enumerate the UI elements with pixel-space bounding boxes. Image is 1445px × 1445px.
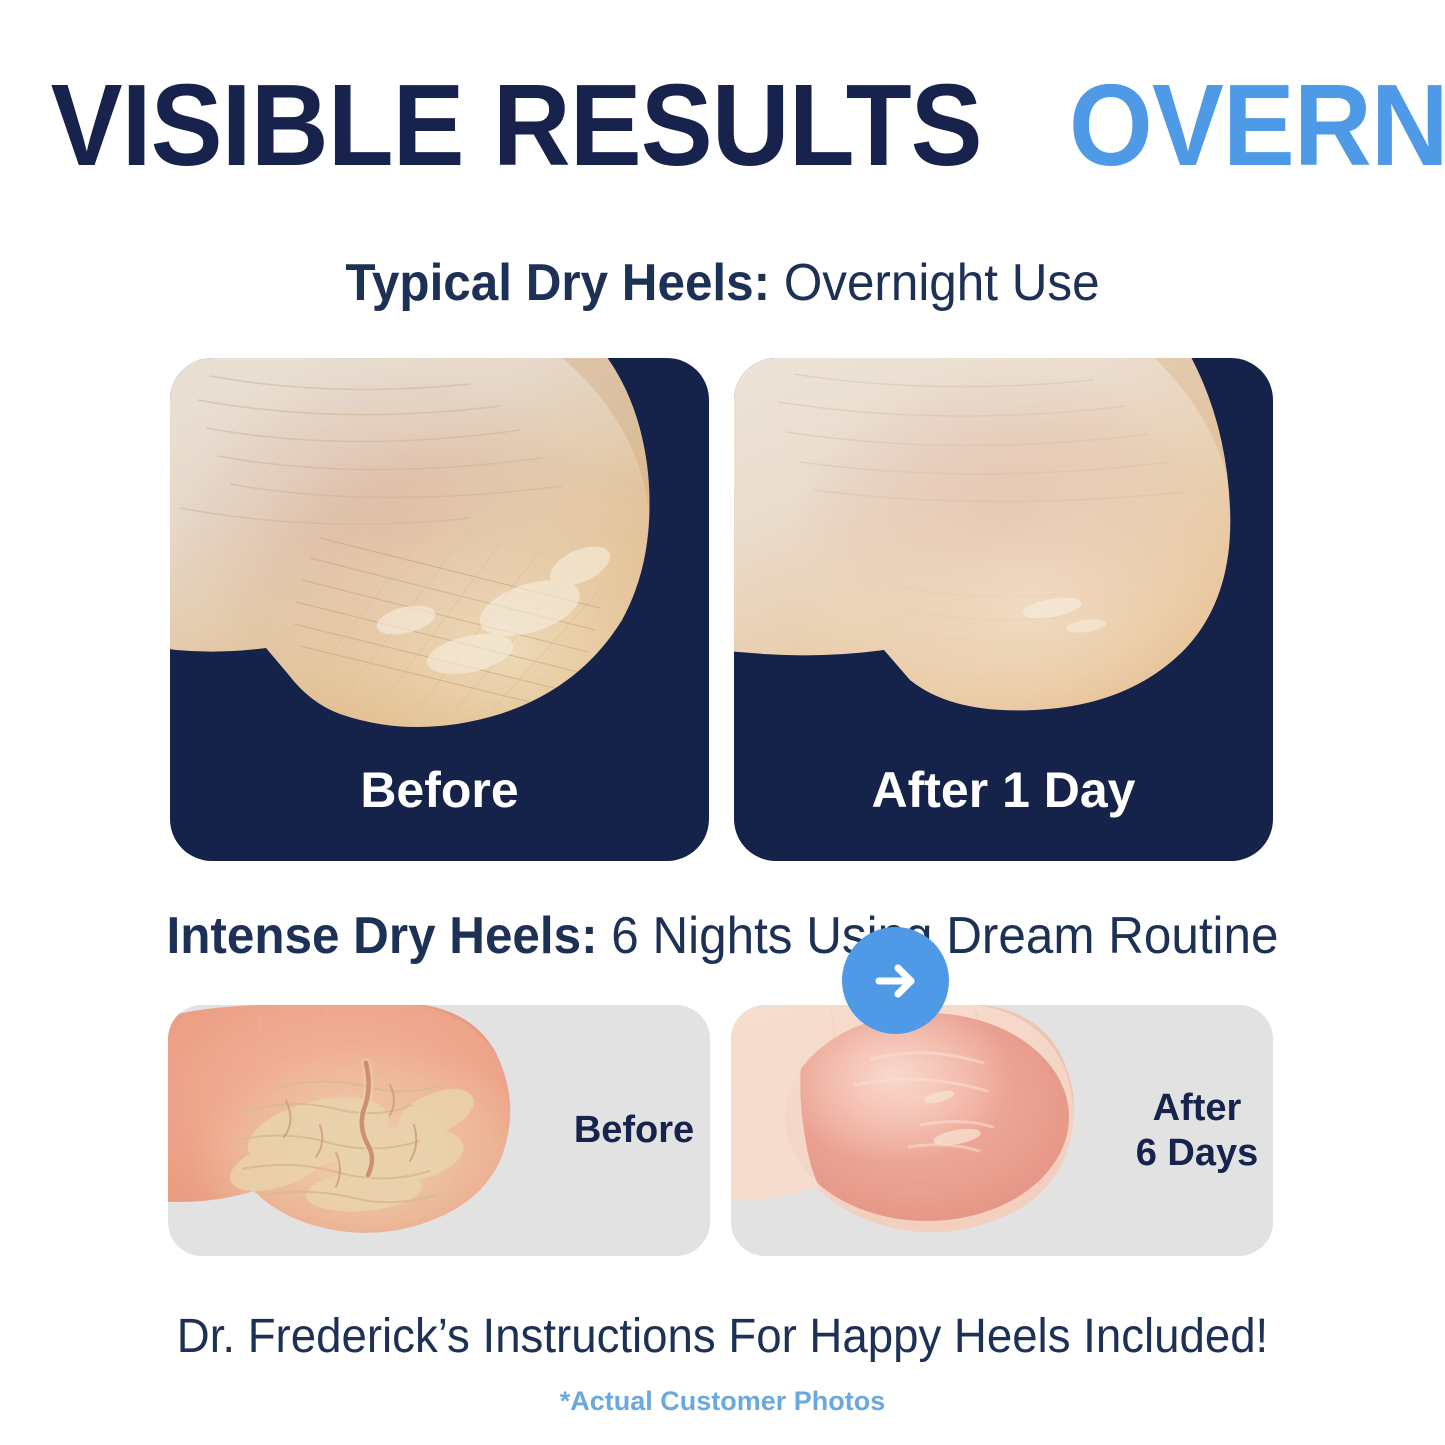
- panel-label-before-intense-line1: Before: [574, 1108, 694, 1153]
- page-headline: VISIBLE RESULTS OVERNIGHT: [51, 66, 1395, 184]
- footer-instructions-text: Dr. Frederick’s Instructions For Happy H…: [36, 1310, 1409, 1364]
- section-title-typical-light: Overnight Use: [770, 254, 1099, 312]
- section-title-intense: Intense Dry Heels: 6 Nights Using Dream …: [36, 908, 1409, 964]
- dry-heel-cracked-photo: [170, 358, 709, 748]
- panel-after-intense[interactable]: After 6 Days: [731, 1005, 1273, 1256]
- panel-label-after-typical: After 1 Day: [734, 763, 1273, 817]
- panel-after-typical[interactable]: After 1 Day: [734, 358, 1273, 861]
- panel-before-typical[interactable]: Before: [170, 358, 709, 861]
- severely-cracked-heel-photo: [168, 1005, 558, 1256]
- section-title-intense-strong: Intense Dry Heels:: [167, 907, 598, 965]
- panel-label-after-intense: After 6 Days: [1121, 1005, 1273, 1256]
- panel-label-before-typical: Before: [170, 763, 709, 817]
- section-title-typical: Typical Dry Heels: Overnight Use: [36, 255, 1409, 311]
- panel-label-before-intense: Before: [558, 1005, 710, 1256]
- healed-pink-heel-photo: [731, 1005, 1121, 1256]
- comparison-row-typical: Before: [170, 358, 1273, 861]
- section-title-typical-strong: Typical Dry Heels:: [345, 254, 770, 312]
- headline-primary-text: VISIBLE RESULTS: [51, 60, 982, 190]
- footer-disclaimer-text: *Actual Customer Photos: [0, 1385, 1445, 1417]
- comparison-row-intense: Before: [168, 1005, 1273, 1256]
- panel-before-intense[interactable]: Before: [168, 1005, 710, 1256]
- headline-accent-text: OVERNIGHT: [1069, 60, 1445, 190]
- panel-label-after-intense-line2: 6 Days: [1136, 1131, 1259, 1176]
- panel-label-after-intense-line1: After: [1153, 1086, 1242, 1131]
- smooth-heel-photo: [734, 358, 1273, 748]
- arrow-right-icon: [842, 927, 949, 1034]
